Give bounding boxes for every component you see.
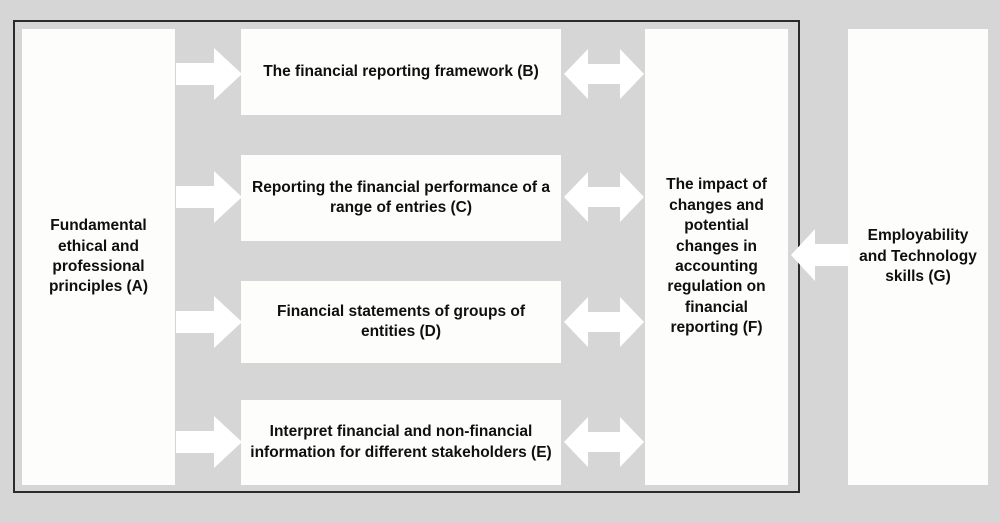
arrow-right-icon-a-to-d (176, 294, 242, 350)
arrow-right-icon-a-to-e (176, 414, 242, 470)
arrow-bidirectional-icon-b-to-f (564, 46, 644, 102)
node-b-label: The financial reporting framework (B) (263, 62, 539, 82)
node-d-financial-statements-groups: Financial statements of groups of entiti… (241, 281, 561, 363)
node-f-label: The impact of changes and potential chan… (653, 175, 780, 339)
node-b-financial-reporting-framework: The financial reporting framework (B) (241, 29, 561, 115)
node-c-label: Reporting the financial performance of a… (249, 178, 553, 219)
arrow-bidirectional-icon-e-to-f (564, 414, 644, 470)
node-f-impact-of-changes: The impact of changes and potential chan… (645, 29, 788, 485)
diagram-canvas: Fundamental ethical and professional pri… (0, 0, 1000, 523)
arrow-bidirectional-icon-c-to-f (564, 169, 644, 225)
arrow-right-icon-a-to-b (176, 46, 242, 102)
node-g-employability-technology-skills: Employability and Technology skills (G) (848, 29, 988, 485)
node-a-label: Fundamental ethical and professional pri… (30, 216, 167, 298)
node-d-label: Financial statements of groups of entiti… (249, 302, 553, 343)
node-c-reporting-financial-performance: Reporting the financial performance of a… (241, 155, 561, 241)
arrow-bidirectional-icon-d-to-f (564, 294, 644, 350)
arrow-left-icon-g-to-f (791, 227, 849, 283)
node-g-label: Employability and Technology skills (G) (856, 226, 980, 287)
node-e-interpret-financial-information: Interpret financial and non-financial in… (241, 400, 561, 485)
arrow-right-icon-a-to-c (176, 169, 242, 225)
node-a-fundamental-principles: Fundamental ethical and professional pri… (22, 29, 175, 485)
node-e-label: Interpret financial and non-financial in… (249, 422, 553, 463)
